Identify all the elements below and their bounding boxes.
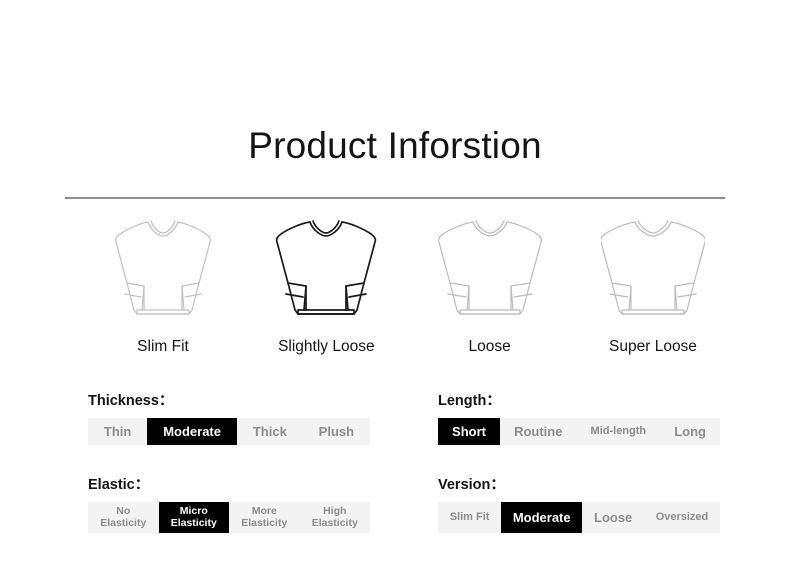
option-long[interactable]: Long xyxy=(660,418,720,445)
option-thick[interactable]: Thick xyxy=(237,418,303,445)
attribute-group-thickness: Thickness： Thin Moderate Thick Plush xyxy=(88,392,370,445)
attribute-label-length: Length： xyxy=(438,392,720,411)
option-moderate-version[interactable]: Moderate xyxy=(501,502,582,533)
option-no-elasticity[interactable]: No Elasticity xyxy=(88,502,159,533)
sweater-icon xyxy=(111,215,215,327)
fit-options: Slim Fit Slightly Loose xyxy=(88,215,728,357)
option-bar-version: Slim Fit Moderate Loose Oversized xyxy=(438,502,720,533)
sweater-icon xyxy=(438,215,542,327)
header-divider xyxy=(65,197,725,199)
fit-option-label: Super Loose xyxy=(609,337,697,357)
attribute-group-length: Length： Short Routine Mid-length Long xyxy=(438,392,720,445)
fit-option-slightly-loose[interactable]: Slightly Loose xyxy=(251,215,401,357)
option-line-1: Micro xyxy=(180,506,208,518)
option-bar-elastic: No Elasticity Micro Elasticity More Elas… xyxy=(88,502,370,533)
option-line-2: Elasticity xyxy=(100,518,146,530)
option-bar-length: Short Routine Mid-length Long xyxy=(438,418,720,445)
attribute-label-version: Version： xyxy=(438,476,720,495)
option-moderate[interactable]: Moderate xyxy=(147,418,237,445)
attribute-group-elastic: Elastic： No Elasticity Micro Elasticity … xyxy=(88,476,370,533)
fit-option-slim-fit[interactable]: Slim Fit xyxy=(88,215,238,357)
option-mid-length[interactable]: Mid-length xyxy=(577,418,661,445)
page-title: Product Inforstion xyxy=(0,122,790,170)
option-routine[interactable]: Routine xyxy=(500,418,576,445)
attribute-grid: Thickness： Thin Moderate Thick Plush Len… xyxy=(88,392,720,564)
option-oversized[interactable]: Oversized xyxy=(644,502,720,533)
sweater-icon xyxy=(274,215,378,327)
attribute-group-version: Version： Slim Fit Moderate Loose Oversiz… xyxy=(438,476,720,533)
option-line-1: More xyxy=(252,506,277,518)
attribute-label-thickness: Thickness： xyxy=(88,392,370,411)
option-line-1: No xyxy=(116,506,130,518)
option-loose[interactable]: Loose xyxy=(582,502,644,533)
attribute-row-2: Elastic： No Elasticity Micro Elasticity … xyxy=(88,476,720,533)
attribute-label-elastic: Elastic： xyxy=(88,476,370,495)
option-line-1: High xyxy=(323,506,346,518)
fit-option-label: Slim Fit xyxy=(137,337,189,357)
fit-option-label: Slightly Loose xyxy=(278,337,375,357)
option-slim-fit[interactable]: Slim Fit xyxy=(438,502,501,533)
option-short[interactable]: Short xyxy=(438,418,500,445)
attribute-row-1: Thickness： Thin Moderate Thick Plush Len… xyxy=(88,392,720,445)
option-thin[interactable]: Thin xyxy=(88,418,147,445)
option-micro-elasticity[interactable]: Micro Elasticity xyxy=(159,502,230,533)
option-more-elasticity[interactable]: More Elasticity xyxy=(229,502,300,533)
option-bar-thickness: Thin Moderate Thick Plush xyxy=(88,418,370,445)
option-line-2: Elasticity xyxy=(241,518,287,530)
option-line-2: Elasticity xyxy=(171,518,217,530)
option-plush[interactable]: Plush xyxy=(303,418,370,445)
option-high-elasticity[interactable]: High Elasticity xyxy=(300,502,371,533)
option-line-2: Elasticity xyxy=(312,518,358,530)
fit-option-label: Loose xyxy=(469,337,511,357)
sweater-icon xyxy=(601,215,705,327)
fit-option-loose[interactable]: Loose xyxy=(415,215,565,357)
fit-option-super-loose[interactable]: Super Loose xyxy=(578,215,728,357)
